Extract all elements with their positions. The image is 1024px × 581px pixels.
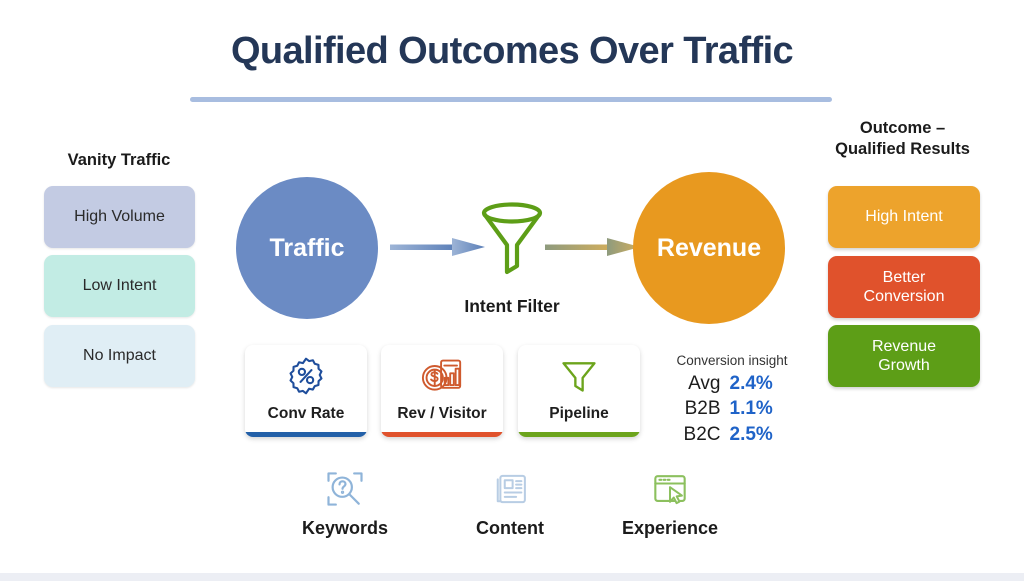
vanity-card-label: Low Intent [83, 277, 157, 295]
newspaper-icon [435, 466, 585, 512]
metric-card-accent-bar [245, 432, 367, 437]
page-title: Qualified Outcomes Over Traffic [0, 30, 1024, 73]
insight-key: B2B [673, 396, 721, 421]
insight-row: Avg 2.4% [652, 371, 812, 396]
channel-label: Experience [595, 518, 745, 539]
metric-card-label: Conv Rate [245, 405, 367, 423]
outcome-card-label-line2: Conversion [864, 287, 945, 306]
metric-card-rev-visitor[interactable]: Rev / Visitor [381, 345, 503, 437]
metric-card-label: Rev / Visitor [381, 405, 503, 423]
coin-bar-chart-icon [420, 355, 464, 397]
metric-card-conv-rate[interactable]: Conv Rate [245, 345, 367, 437]
search-question-icon [270, 466, 420, 512]
outcome-card-label-line1: Revenue [872, 337, 936, 356]
outcome-card-high-intent[interactable]: High Intent [828, 186, 980, 248]
intent-filter-label: Intent Filter [420, 296, 604, 317]
funnel-icon [559, 355, 599, 397]
outcome-heading: Outcome – Qualified Results [800, 118, 1005, 159]
vanity-card-no-impact[interactable]: No Impact [44, 325, 195, 387]
funnel-icon [477, 200, 547, 280]
metric-card-label: Pipeline [518, 405, 640, 423]
arrow-filter-to-revenue [545, 234, 640, 260]
vanity-card-label: High Volume [74, 208, 165, 226]
insight-value: 1.1% [721, 396, 792, 421]
slide-canvas: Qualified Outcomes Over Traffic Vanity T… [0, 0, 1024, 581]
channel-label: Content [435, 518, 585, 539]
title-underline [190, 97, 832, 102]
insight-key: Avg [673, 371, 721, 396]
metric-card-accent-bar [381, 432, 503, 437]
arrow-traffic-to-filter [390, 234, 485, 260]
channel-experience[interactable]: Experience [595, 466, 745, 539]
outcome-heading-line2: Qualified Results [800, 139, 1005, 160]
percent-badge-icon [286, 355, 326, 397]
outcome-card-label-line2: Growth [872, 356, 936, 375]
insight-value: 2.4% [721, 371, 792, 396]
metric-card-accent-bar [518, 432, 640, 437]
insight-key: B2C [673, 422, 721, 447]
channel-keywords[interactable]: Keywords [270, 466, 420, 539]
insight-row: B2C 2.5% [652, 422, 812, 447]
revenue-circle-label: Revenue [657, 234, 761, 263]
metric-card-pipeline[interactable]: Pipeline [518, 345, 640, 437]
insight-row: B2B 1.1% [652, 396, 812, 421]
vanity-card-label: No Impact [83, 347, 156, 365]
traffic-circle[interactable]: Traffic [236, 177, 378, 319]
vanity-traffic-heading: Vanity Traffic [28, 150, 210, 171]
channel-label: Keywords [270, 518, 420, 539]
vanity-card-high-volume[interactable]: High Volume [44, 186, 195, 248]
conversion-insight: Conversion insight Avg 2.4% B2B 1.1% B2C… [652, 353, 812, 447]
revenue-circle[interactable]: Revenue [633, 172, 785, 324]
insight-value: 2.5% [721, 422, 792, 447]
outcome-card-label: High Intent [865, 207, 942, 226]
outcome-card-revenue-growth[interactable]: Revenue Growth [828, 325, 980, 387]
bottom-strip [0, 573, 1024, 581]
vanity-card-low-intent[interactable]: Low Intent [44, 255, 195, 317]
channel-content[interactable]: Content [435, 466, 585, 539]
browser-cursor-icon [595, 466, 745, 512]
outcome-card-label-line1: Better [864, 268, 945, 287]
outcome-card-better-conversion[interactable]: Better Conversion [828, 256, 980, 318]
traffic-circle-label: Traffic [269, 234, 344, 263]
outcome-heading-line1: Outcome – [800, 118, 1005, 139]
conversion-insight-title: Conversion insight [652, 353, 812, 368]
